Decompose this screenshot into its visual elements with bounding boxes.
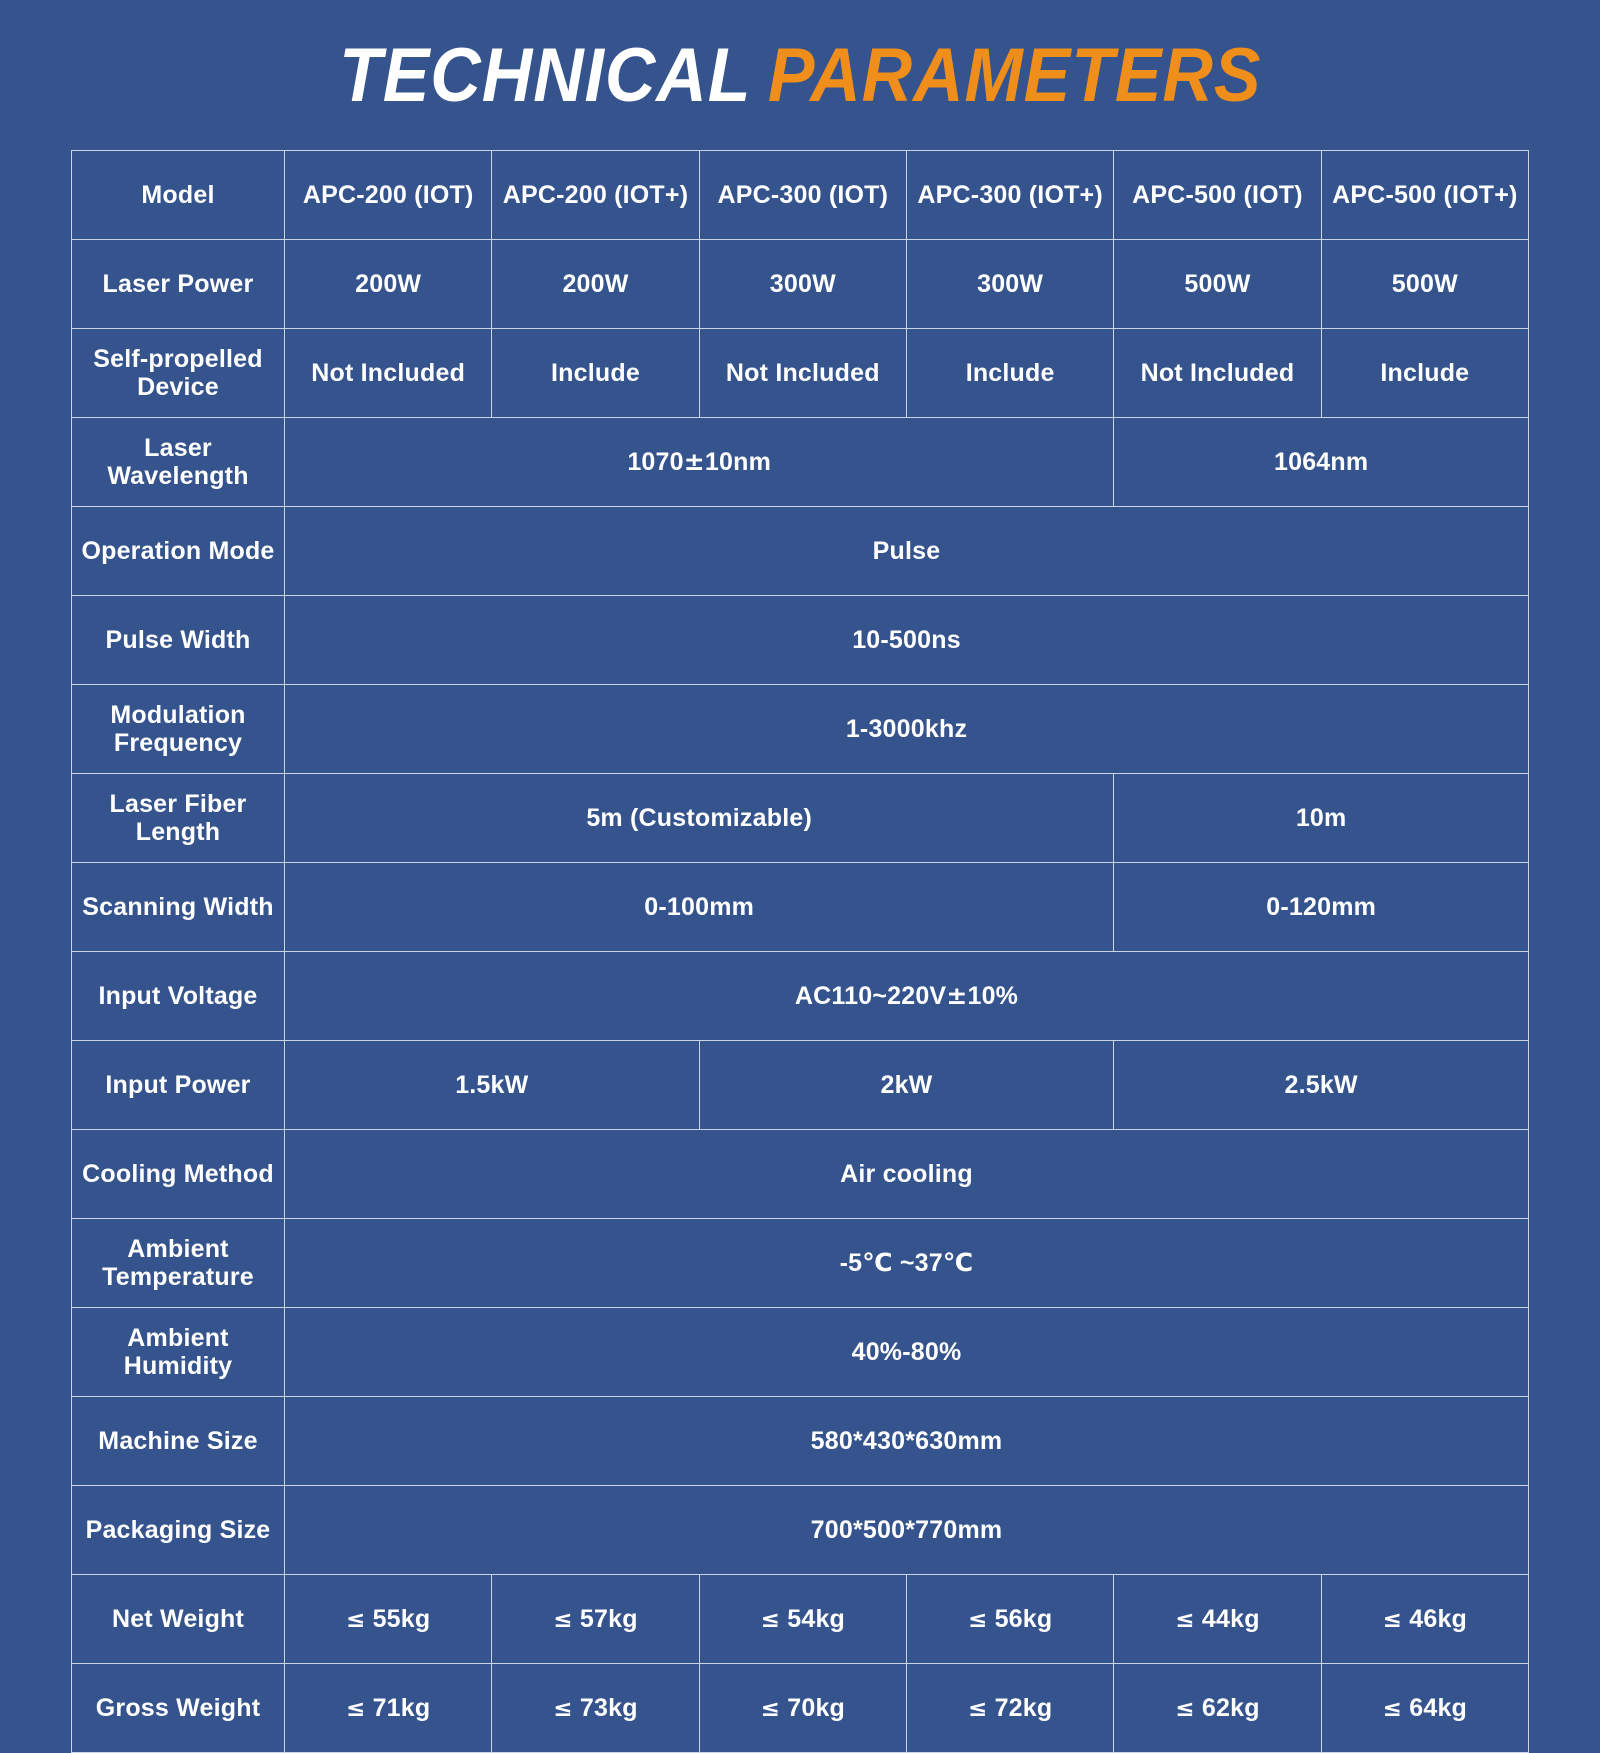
cell-self-propelled-device-1: Not Included	[285, 329, 492, 418]
cell-net-weight-2: ≤ 57kg	[492, 1575, 699, 1664]
column-header-apc-200-iot: APC-200 (IOT+)	[492, 151, 699, 240]
cell-net-weight-4: ≤ 56kg	[906, 1575, 1113, 1664]
row-label-modulation-frequency: Modulation Frequency	[72, 685, 285, 774]
cell-self-propelled-device-3: Not Included	[699, 329, 906, 418]
table-row: Net Weight≤ 55kg≤ 57kg≤ 54kg≤ 56kg≤ 44kg…	[72, 1575, 1529, 1664]
cell-net-weight-5: ≤ 44kg	[1114, 1575, 1321, 1664]
cell-laser-fiber-length-2: 10m	[1114, 774, 1529, 863]
column-header-apc-500-iot: APC-500 (IOT+)	[1321, 151, 1528, 240]
column-header-apc-200-iot: APC-200 (IOT)	[285, 151, 492, 240]
cell-self-propelled-device-2: Include	[492, 329, 699, 418]
cell-input-voltage-1: AC110~220V±10%	[285, 952, 1529, 1041]
cell-modulation-frequency-1: 1-3000khz	[285, 685, 1529, 774]
cell-laser-wavelength-2: 1064nm	[1114, 418, 1529, 507]
cell-ambient-temperature-1: -5℃ ~37℃	[285, 1219, 1529, 1308]
table-row: Self-propelled DeviceNot IncludedInclude…	[72, 329, 1529, 418]
cell-laser-power-6: 500W	[1321, 240, 1528, 329]
table-row: Operation ModePulse	[72, 507, 1529, 596]
row-label-cooling-method: Cooling Method	[72, 1130, 285, 1219]
table-row: Cooling MethodAir cooling	[72, 1130, 1529, 1219]
table-row: Laser Fiber Length5m (Customizable)10m	[72, 774, 1529, 863]
cell-gross-weight-5: ≤ 62kg	[1114, 1664, 1321, 1753]
specifications-table-container: ModelAPC-200 (IOT)APC-200 (IOT+)APC-300 …	[71, 150, 1529, 1753]
column-header-apc-300-iot: APC-300 (IOT+)	[906, 151, 1113, 240]
cell-net-weight-3: ≤ 54kg	[699, 1575, 906, 1664]
cell-cooling-method-1: Air cooling	[285, 1130, 1529, 1219]
cell-gross-weight-3: ≤ 70kg	[699, 1664, 906, 1753]
table-row: Ambient Humidity40%-80%	[72, 1308, 1529, 1397]
cell-input-power-2: 2kW	[699, 1041, 1114, 1130]
cell-pulse-width-1: 10-500ns	[285, 596, 1529, 685]
table-row: Packaging Size700*500*770mm	[72, 1486, 1529, 1575]
row-label-input-power: Input Power	[72, 1041, 285, 1130]
row-label-laser-wavelength: Laser Wavelength	[72, 418, 285, 507]
table-row: Scanning Width0-100mm0-120mm	[72, 863, 1529, 952]
cell-self-propelled-device-5: Not Included	[1114, 329, 1321, 418]
row-label-packaging-size: Packaging Size	[72, 1486, 285, 1575]
row-label-input-voltage: Input Voltage	[72, 952, 285, 1041]
row-label-laser-power: Laser Power	[72, 240, 285, 329]
table-row: Ambient Temperature-5℃ ~37℃	[72, 1219, 1529, 1308]
specifications-table-body: ModelAPC-200 (IOT)APC-200 (IOT+)APC-300 …	[72, 151, 1529, 1753]
table-row: Laser Wavelength1070±10nm1064nm	[72, 418, 1529, 507]
cell-laser-power-4: 300W	[906, 240, 1113, 329]
cell-input-power-3: 2.5kW	[1114, 1041, 1529, 1130]
table-row: Gross Weight≤ 71kg≤ 73kg≤ 70kg≤ 72kg≤ 62…	[72, 1664, 1529, 1753]
cell-gross-weight-4: ≤ 72kg	[906, 1664, 1113, 1753]
cell-machine-size-1: 580*430*630mm	[285, 1397, 1529, 1486]
cell-self-propelled-device-4: Include	[906, 329, 1113, 418]
cell-ambient-humidity-1: 40%-80%	[285, 1308, 1529, 1397]
cell-operation-mode-1: Pulse	[285, 507, 1529, 596]
row-label-ambient-temperature: Ambient Temperature	[72, 1219, 285, 1308]
column-header-apc-300-iot: APC-300 (IOT)	[699, 151, 906, 240]
cell-input-power-1: 1.5kW	[285, 1041, 700, 1130]
cell-gross-weight-6: ≤ 64kg	[1321, 1664, 1528, 1753]
cell-net-weight-1: ≤ 55kg	[285, 1575, 492, 1664]
spec-sheet-page: TECHNICALPARAMETERS ModelAPC-200 (IOT)AP…	[0, 0, 1600, 1600]
column-header-apc-500-iot: APC-500 (IOT)	[1114, 151, 1321, 240]
cell-laser-power-2: 200W	[492, 240, 699, 329]
cell-laser-power-5: 500W	[1114, 240, 1321, 329]
cell-laser-power-3: 300W	[699, 240, 906, 329]
cell-net-weight-6: ≤ 46kg	[1321, 1575, 1528, 1664]
page-title: TECHNICALPARAMETERS	[0, 38, 1600, 114]
table-row: Input VoltageAC110~220V±10%	[72, 952, 1529, 1041]
cell-laser-wavelength-1: 1070±10nm	[285, 418, 1114, 507]
page-title-part-technical: TECHNICAL	[339, 33, 751, 118]
cell-gross-weight-1: ≤ 71kg	[285, 1664, 492, 1753]
table-header-row: ModelAPC-200 (IOT)APC-200 (IOT+)APC-300 …	[72, 151, 1529, 240]
cell-laser-fiber-length-1: 5m (Customizable)	[285, 774, 1114, 863]
row-label-net-weight: Net Weight	[72, 1575, 285, 1664]
row-label-machine-size: Machine Size	[72, 1397, 285, 1486]
specifications-table: ModelAPC-200 (IOT)APC-200 (IOT+)APC-300 …	[71, 150, 1529, 1753]
column-header-model: Model	[72, 151, 285, 240]
cell-laser-power-1: 200W	[285, 240, 492, 329]
cell-gross-weight-2: ≤ 73kg	[492, 1664, 699, 1753]
table-row: Input Power1.5kW2kW2.5kW	[72, 1041, 1529, 1130]
row-label-operation-mode: Operation Mode	[72, 507, 285, 596]
table-row: Laser Power200W200W300W300W500W500W	[72, 240, 1529, 329]
row-label-laser-fiber-length: Laser Fiber Length	[72, 774, 285, 863]
row-label-pulse-width: Pulse Width	[72, 596, 285, 685]
row-label-ambient-humidity: Ambient Humidity	[72, 1308, 285, 1397]
cell-packaging-size-1: 700*500*770mm	[285, 1486, 1529, 1575]
cell-scanning-width-1: 0-100mm	[285, 863, 1114, 952]
row-label-self-propelled-device: Self-propelled Device	[72, 329, 285, 418]
row-label-scanning-width: Scanning Width	[72, 863, 285, 952]
page-title-text: TECHNICALPARAMETERS	[339, 38, 1261, 114]
table-row: Machine Size580*430*630mm	[72, 1397, 1529, 1486]
cell-scanning-width-2: 0-120mm	[1114, 863, 1529, 952]
row-label-gross-weight: Gross Weight	[72, 1664, 285, 1753]
page-title-part-parameters: PARAMETERS	[768, 33, 1261, 118]
cell-self-propelled-device-6: Include	[1321, 329, 1528, 418]
table-row: Pulse Width10-500ns	[72, 596, 1529, 685]
table-row: Modulation Frequency1-3000khz	[72, 685, 1529, 774]
